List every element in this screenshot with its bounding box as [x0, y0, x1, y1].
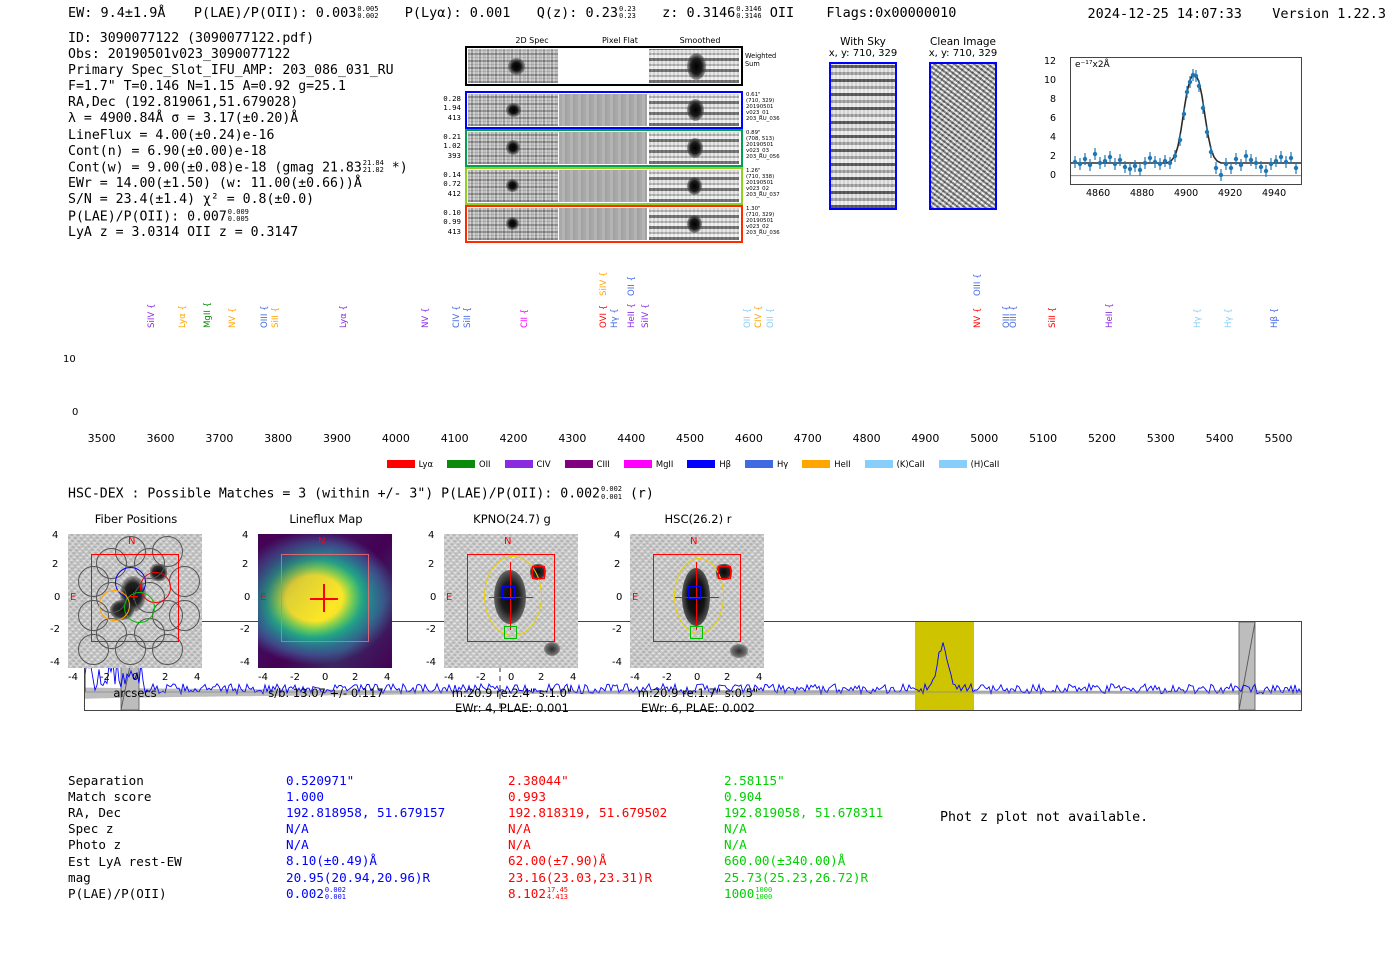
hsc-r-image: N E — [630, 534, 764, 668]
spec2d-row-weighted — [465, 46, 743, 86]
full-spectrum-plot: SiIV {Lyα {MgII {NV {OIII {SiII {Lyα {NV… — [0, 280, 1400, 480]
spectrum-xtick: 4400 — [614, 432, 648, 445]
hsc-stats-line1: m:20.9 re:1.7" s:0.5" — [608, 686, 788, 700]
info-sn-chi2: S/N = 23.4(±1.4) χ² = 0.8(±0.0) — [68, 192, 408, 208]
spec2d-cell-pixelflat — [559, 170, 647, 202]
cutout-xtick: 0 — [694, 672, 700, 683]
table-cell: 0.0020.0020.001 — [286, 886, 445, 902]
cutout-ytick: -4 — [612, 657, 622, 668]
cutout-ytick: 0 — [430, 592, 436, 603]
spec2d-cell-pixelflat — [559, 94, 647, 126]
table-cell: 192.819058, 51.678311 — [724, 805, 883, 821]
spectrum-xtick: 3500 — [85, 432, 119, 445]
table-row-label: P(LAE)/P(OII) — [68, 886, 167, 902]
legend-label: CIV — [537, 459, 551, 469]
spectrum-xtick: 5200 — [1085, 432, 1119, 445]
spectrum-xtick: 5100 — [1026, 432, 1060, 445]
cutout-xtick: 4 — [194, 672, 200, 683]
header-plae-bounds: 0.0050.002 — [357, 6, 378, 21]
table-cell: 20.95(20.94,20.96)R — [286, 870, 445, 886]
table-cell: 192.818958, 51.679157 — [286, 805, 445, 821]
spectrum-xtick: 4200 — [497, 432, 531, 445]
header-z-type: OII — [770, 5, 794, 21]
line-plot-ytick: 2 — [1050, 151, 1056, 162]
legend-swatch — [447, 460, 475, 468]
cutout-xtick: -4 — [258, 672, 268, 683]
legend-label: Hβ — [719, 459, 731, 469]
cutout-xtick: 2 — [352, 672, 358, 683]
table-plae-bounds: 17.454.413 — [547, 887, 568, 902]
cutout-xtick: 4 — [756, 672, 762, 683]
table-cell: 660.00(±340.00)Å — [724, 853, 883, 869]
spec2d-row-numbers: 0.10 0.99 413 — [430, 208, 461, 236]
spec2d-cell-2dspec — [468, 132, 558, 164]
info-cont-w: Cont(w) = 9.00(±0.08)e-18 (gmag 21.8321.… — [68, 160, 408, 177]
header-summary-line: EW: 9.4±1.9Å P(LAE)/P(OII): 0.0030.0050.… — [68, 5, 956, 21]
emission-line-labels: SiIV {Lyα {MgII {NV {OIII {SiII {Lyα {NV… — [0, 280, 1400, 342]
hsc-stats-line2: EWr: 6, PLAE: 0.002 — [608, 701, 788, 715]
cutout-xtick: -4 — [630, 672, 640, 683]
table-cell: N/A — [286, 837, 445, 853]
table-cell: N/A — [508, 821, 667, 837]
cutout-xtick: 2 — [162, 672, 168, 683]
info-lineflux: LineFlux = 4.00(±0.24)e-16 — [68, 128, 408, 144]
info-params: F=1.7" T=0.146 N=1.15 A=0.92 g=25.1 — [68, 79, 408, 95]
hscdex-plae-bounds: 0.0020.001 — [601, 486, 622, 501]
line-plot-axes: e⁻¹⁷x2Å — [1070, 57, 1302, 185]
compass-n: N — [504, 536, 511, 547]
cutout-ytick: 2 — [242, 559, 248, 570]
spectrum-xtick: 3600 — [143, 432, 177, 445]
header-timestamp: 2024-12-25 14:07:33 — [1087, 6, 1241, 22]
line-plot-ytick: 4 — [1050, 132, 1056, 143]
clean-image-panel: Clean Image x, y: 710, 329 — [920, 36, 1006, 210]
table-cell: 100010001000 — [724, 886, 883, 902]
legend-item: (K)CaII — [865, 459, 925, 469]
header-plya: P(Lyα): 0.001 — [405, 5, 511, 21]
spec2d-cell-2dspec — [468, 94, 558, 126]
legend-swatch — [802, 460, 830, 468]
spectrum-legend: LyαOIICIVCIIIMgIIHβHγHeII(K)CaII(H)CaII — [0, 453, 1400, 472]
spec2d-montage: 2D Spec Pixel Flat Smoothed Weighted Sum… — [430, 36, 770, 246]
table-row-label: Est LyA rest-EW — [68, 854, 182, 870]
legend-item: Hβ — [687, 459, 731, 469]
spec2d-cell-pixelflat — [559, 132, 647, 164]
legend-label: CIII — [597, 459, 610, 469]
emission-line-label: CII { — [520, 309, 530, 328]
table-cell: 2.58115" — [724, 773, 883, 789]
cutout-xlabel: arcsecs — [68, 686, 202, 700]
table-row-label: Match score — [68, 789, 151, 805]
photz-note: Phot z plot not available. — [940, 810, 1148, 825]
info-cont-n: Cont(n) = 6.90(±0.00)e-18 — [68, 144, 408, 160]
spectrum-xtick: 5000 — [967, 432, 1001, 445]
spec2d-row-3 — [465, 167, 743, 205]
table-column: 2.38044"0.993192.818319, 51.679502N/AN/A… — [508, 773, 667, 902]
legend-item: OII — [447, 459, 491, 469]
line-plot-xtick: 4880 — [1130, 188, 1154, 199]
line-plot-xtick: 4900 — [1174, 188, 1198, 199]
line-plot-xtick: 4860 — [1086, 188, 1110, 199]
line-plot-ytick: 8 — [1050, 94, 1056, 105]
spec2d-title-smoothed: Smoothed — [670, 36, 730, 45]
table-cell: N/A — [286, 821, 445, 837]
legend-label: Lyα — [419, 459, 433, 469]
cutout-ytick: -4 — [240, 657, 250, 668]
table-row-label: Photo z — [68, 837, 121, 853]
table-cell: 192.818319, 51.679502 — [508, 805, 667, 821]
info-plae: P(LAE)/P(OII): 0.0070.0090.005 — [68, 209, 408, 226]
cutout-hsc-r: HSC(26.2) r N E 4 2 0 -2 -4 -4 -2 0 2 4 … — [608, 512, 788, 727]
cutout-ytick: 0 — [54, 592, 60, 603]
cutout-xtick: -2 — [476, 672, 486, 683]
cutout-fiber-positions: Fiber Positions — [46, 512, 226, 727]
cutout-ytick: 4 — [242, 530, 248, 541]
header-ew: EW: 9.4±1.9Å — [68, 5, 166, 21]
spectrum-xtick: 5500 — [1261, 432, 1295, 445]
line-plot-unit-label: e⁻¹⁷x2Å — [1075, 60, 1110, 70]
cutout-xtick: -2 — [662, 672, 672, 683]
legend-swatch — [865, 460, 893, 468]
cutout-ytick: 2 — [614, 559, 620, 570]
table-cell: 0.904 — [724, 789, 883, 805]
spectrum-xtick: 3800 — [261, 432, 295, 445]
cutout-ytick: 2 — [428, 559, 434, 570]
spec2d-weighted-sum-label: Weighted Sum — [745, 52, 776, 68]
spec2d-cell-2dspec — [468, 208, 558, 240]
table-cell: 62.00(±7.90)Å — [508, 853, 667, 869]
cutout-xtick: 4 — [570, 672, 576, 683]
info-radec: RA,Dec (192.819061,51.679028) — [68, 95, 408, 111]
table-row-label: Spec z — [68, 821, 114, 837]
cutout-lineflux-map: Lineflux Map N E 4 2 0 -2 -4 -4 -2 0 2 4… — [236, 512, 416, 727]
kpno-stats-line2: EWr: 4, PLAE: 0.001 — [422, 701, 602, 715]
table-cell: 8.10(±0.49)Å — [286, 853, 445, 869]
cutout-title: Lineflux Map — [236, 512, 416, 526]
spectrum-ytick-0: 0 — [72, 407, 78, 418]
info-plae-bounds: 0.0090.005 — [228, 209, 249, 224]
spectrum-xtick: 3900 — [320, 432, 354, 445]
legend-item: CIII — [565, 459, 610, 469]
spec2d-row-side-label: 1.30"(710, 329) 20190501v023_02 203_RU_0… — [746, 206, 780, 236]
lineflux-map-image: N E — [258, 534, 392, 668]
legend-label: OII — [479, 459, 491, 469]
spec2d-row-1 — [465, 91, 743, 129]
compass-e: E — [260, 592, 266, 603]
emission-line-label: OII { — [743, 308, 753, 328]
line-plot-svg — [1071, 58, 1301, 184]
object-info-block: ID: 3090077122 (3090077122.pdf) Obs: 201… — [68, 31, 408, 241]
table-column: 2.58115"0.904192.819058, 51.678311N/AN/A… — [724, 773, 883, 902]
legend-item: CIV — [505, 459, 551, 469]
emission-line-label: NV { — [421, 307, 431, 328]
sky-panels: With Sky x, y: 710, 329 Clean Image x, y… — [820, 36, 1010, 246]
legend-item: (H)CaII — [939, 459, 1000, 469]
cutout-xtick: 0 — [322, 672, 328, 683]
emission-line-label: OIII { — [260, 305, 270, 328]
table-row-label: mag — [68, 870, 91, 886]
cutout-ytick: -2 — [50, 624, 60, 635]
clean-image-image — [929, 62, 997, 210]
legend-swatch — [687, 460, 715, 468]
with-sky-coords: x, y: 710, 329 — [820, 48, 906, 59]
emission-line-label: HeII { — [627, 303, 637, 328]
table-cell: N/A — [724, 821, 883, 837]
emission-line-label: SiIV { — [147, 304, 157, 328]
table-cell: 23.16(23.03,23.31)R — [508, 870, 667, 886]
emission-line-label: Hγ { — [610, 308, 620, 328]
with-sky-panel: With Sky x, y: 710, 329 — [820, 36, 906, 210]
table-cell: 1.000 — [286, 789, 445, 805]
spec2d-row-side-label: 1.26"(710, 338) 20190501v023_02 203_RU_0… — [746, 168, 780, 198]
cutout-xtick: 4 — [384, 672, 390, 683]
spec2d-rows: 0.28 1.94 413 0.61"(710, 329) 20190501v0… — [430, 91, 770, 246]
line-plot-xtick: 4940 — [1262, 188, 1286, 199]
cutout-xtick: 0 — [508, 672, 514, 683]
spec2d-cell-smoothed — [649, 94, 739, 126]
emission-line-label: CIV { — [754, 305, 764, 328]
emission-line-label: OVI { — [599, 305, 609, 328]
header-qz-label: Q(z): 0.23 — [537, 5, 618, 21]
emission-line-label: MgII { — [203, 302, 213, 328]
match-table: SeparationMatch scoreRA, DecSpec zPhoto … — [68, 773, 968, 913]
info-lambda-sigma: λ = 4900.84Å σ = 3.17(±0.20)Å — [68, 111, 408, 127]
spec2d-cell-pixelflat — [559, 208, 647, 240]
spec2d-cell-pixelflat — [559, 49, 647, 83]
legend-label: (K)CaII — [897, 459, 925, 469]
spectrum-xtick: 4300 — [555, 432, 589, 445]
emission-line-label: Hγ { — [1224, 308, 1234, 328]
table-plae-bounds: 10001000 — [755, 887, 772, 902]
legend-item: HeII — [802, 459, 850, 469]
legend-swatch — [565, 460, 593, 468]
emission-line-label: SiII { — [463, 307, 473, 328]
emission-line-label: OII { — [627, 276, 637, 296]
emission-line-label: OIII { — [1009, 305, 1019, 328]
cutout-ytick: -2 — [240, 624, 250, 635]
spectrum-xtick: 4900 — [908, 432, 942, 445]
emission-line-fit-plot: e⁻¹⁷x2Å 0 2 4 6 8 10 12 4860 4880 4900 4… — [1040, 57, 1302, 185]
emission-line-label: SiIV { — [641, 304, 651, 328]
cutout-ytick: 0 — [616, 592, 622, 603]
header-flags: Flags:0x00000010 — [826, 5, 956, 21]
line-plot-ytick: 0 — [1050, 170, 1056, 181]
hscdex-summary: HSC-DEX : Possible Matches = 3 (within +… — [68, 486, 654, 502]
spec2d-row-4 — [465, 205, 743, 243]
emission-line-label: Hγ { — [1193, 308, 1203, 328]
table-cell: 2.38044" — [508, 773, 667, 789]
cutout-ytick: -2 — [612, 624, 622, 635]
spec2d-cell-2dspec — [468, 49, 558, 83]
spectrum-xtick: 4000 — [379, 432, 413, 445]
clean-image-coords: x, y: 710, 329 — [920, 48, 1006, 59]
line-plot-ytick: 10 — [1044, 75, 1056, 86]
cutout-xtick: 2 — [724, 672, 730, 683]
header-timestamp-version: 2024-12-25 14:07:33 Version 1.22.3 — [1087, 6, 1386, 22]
legend-item: Lyα — [387, 459, 433, 469]
spectrum-xtick: 4600 — [732, 432, 766, 445]
lineflux-sb-label: s/b: 13.07 +/- 0.117 — [236, 686, 416, 700]
legend-label: HeII — [834, 459, 850, 469]
spec2d-cell-smoothed — [649, 132, 739, 164]
cutout-xtick: 2 — [538, 672, 544, 683]
legend-swatch — [939, 460, 967, 468]
info-ewr: EWr = 14.00(±1.50) (w: 11.00(±0.66))Å — [68, 176, 408, 192]
legend-label: Hγ — [777, 459, 788, 469]
spec2d-title-2dspec: 2D Spec — [502, 36, 562, 45]
emission-line-label: Lyα { — [178, 305, 188, 328]
line-plot-ytick: 6 — [1050, 113, 1056, 124]
cutout-xtick: -4 — [444, 672, 454, 683]
legend-swatch — [624, 460, 652, 468]
table-cell: N/A — [508, 837, 667, 853]
spectrum-xticks: 3500360037003800390040004100420043004400… — [0, 432, 1400, 448]
spec2d-cell-smoothed — [649, 208, 739, 240]
legend-item: Hγ — [745, 459, 788, 469]
table-cell: 8.10217.454.413 — [508, 886, 667, 902]
spectrum-xtick: 4800 — [850, 432, 884, 445]
spectrum-xtick: 5400 — [1203, 432, 1237, 445]
compass-e: E — [632, 592, 638, 603]
compass-n: N — [128, 536, 135, 547]
spectrum-xtick: 4500 — [673, 432, 707, 445]
info-obs: Obs: 20190501v023_3090077122 — [68, 47, 408, 63]
cutout-ytick: 0 — [244, 592, 250, 603]
compass-n: N — [318, 536, 325, 547]
cutout-panels: Fiber Positions — [0, 512, 1400, 742]
emission-line-label: Hβ { — [1270, 308, 1280, 328]
info-id: ID: 3090077122 (3090077122.pdf) — [68, 31, 408, 47]
emission-line-label: CIV { — [452, 305, 462, 328]
cutout-xtick: -2 — [290, 672, 300, 683]
info-redshifts: LyA z = 3.0314 OII z = 0.3147 — [68, 225, 408, 241]
cutout-xtick: -4 — [68, 672, 78, 683]
emission-line-label: OII { — [766, 308, 776, 328]
line-plot-ytick: 12 — [1044, 56, 1056, 67]
compass-n: N — [690, 536, 697, 547]
cutout-ytick: 4 — [614, 530, 620, 541]
spec2d-row-numbers: 0.21 1.02 393 — [430, 132, 461, 160]
legend-swatch — [745, 460, 773, 468]
fiber-positions-image: N E — [68, 534, 202, 668]
table-plae-bounds: 0.0020.001 — [325, 887, 346, 902]
emission-line-label: SiIV { — [599, 272, 609, 296]
header-z-label: z: 0.3146 — [662, 5, 735, 21]
kpno-stats-line1: m:20.9 re:2.4" s:1.0" — [422, 686, 602, 700]
emission-line-label: HeII { — [1105, 303, 1115, 328]
table-cell: 25.73(25.23,26.72)R — [724, 870, 883, 886]
info-primary-spec: Primary Spec_Slot_IFU_AMP: 203_086_031_R… — [68, 63, 408, 79]
spectrum-xtick: 3700 — [202, 432, 236, 445]
spec2d-row-numbers: 0.28 1.94 413 — [430, 94, 461, 122]
emission-line-label: SiII { — [1048, 307, 1058, 328]
legend-label: MgII — [656, 459, 673, 469]
header-z-bounds: 0.31460.3146 — [736, 6, 761, 21]
line-plot-xtick: 4920 — [1218, 188, 1242, 199]
spec2d-row-2 — [465, 129, 743, 167]
spec2d-cell-smoothed — [649, 49, 739, 83]
legend-swatch — [387, 460, 415, 468]
cutout-title: Fiber Positions — [46, 512, 226, 526]
header-version: Version 1.22.3 — [1272, 6, 1386, 22]
legend-item: MgII — [624, 459, 673, 469]
emission-line-label: NV { — [228, 307, 238, 328]
with-sky-image — [829, 62, 897, 210]
spectrum-xtick: 4700 — [791, 432, 825, 445]
table-row-label: RA, Dec — [68, 805, 121, 821]
cutout-xtick: -2 — [100, 672, 110, 683]
spec2d-title-pixelflat: Pixel Flat — [590, 36, 650, 45]
cutout-kpno-g: KPNO(24.7) g N E 4 2 0 -2 -4 -4 -2 0 2 4 — [422, 512, 602, 727]
cutout-ytick: -2 — [426, 624, 436, 635]
cutout-ytick: -4 — [50, 657, 60, 668]
with-sky-title: With Sky — [820, 36, 906, 48]
compass-e: E — [70, 592, 76, 603]
emission-line-label: SiII { — [271, 307, 281, 328]
table-column: 0.520971"1.000192.818958, 51.679157N/AN/… — [286, 773, 445, 902]
header-qz-bounds: 0.230.23 — [619, 6, 636, 21]
cutout-xtick: 0 — [132, 672, 138, 683]
table-cell: N/A — [724, 837, 883, 853]
cutout-ytick: 4 — [428, 530, 434, 541]
emission-line-label: Lyα { — [339, 305, 349, 328]
spec2d-row-side-label: 0.61"(710, 329) 20190501v023_01 203_RU_0… — [746, 92, 780, 122]
table-row-label: Separation — [68, 773, 144, 789]
table-cell: 0.993 — [508, 789, 667, 805]
spectrum-ytick-10: 10 — [63, 354, 76, 365]
spec2d-row-side-label: 0.89"(708, 513) 20190501v023_03 203_RU_0… — [746, 130, 780, 160]
cutout-title: HSC(26.2) r — [608, 512, 788, 526]
emission-line-label: NV { — [973, 307, 983, 328]
kpno-g-image: N E — [444, 534, 578, 668]
spec2d-row-numbers: 0.14 0.72 412 — [430, 170, 461, 198]
cutout-ytick: -4 — [426, 657, 436, 668]
info-gmag-bounds: 21.8421.82 — [363, 160, 384, 175]
cutout-ytick: 2 — [52, 559, 58, 570]
cutout-ytick: 4 — [52, 530, 58, 541]
spectrum-xtick: 4100 — [438, 432, 472, 445]
header-plae-label: P(LAE)/P(OII): 0.003 — [194, 5, 357, 21]
clean-image-title: Clean Image — [920, 36, 1006, 48]
legend-label: (H)CaII — [971, 459, 1000, 469]
spec2d-cell-smoothed — [649, 170, 739, 202]
table-cell: 0.520971" — [286, 773, 445, 789]
spectrum-xtick: 5300 — [1144, 432, 1178, 445]
legend-swatch — [505, 460, 533, 468]
spec2d-cell-2dspec — [468, 170, 558, 202]
cutout-title: KPNO(24.7) g — [422, 512, 602, 526]
emission-line-label: OIII { — [973, 273, 983, 296]
compass-e: E — [446, 592, 452, 603]
